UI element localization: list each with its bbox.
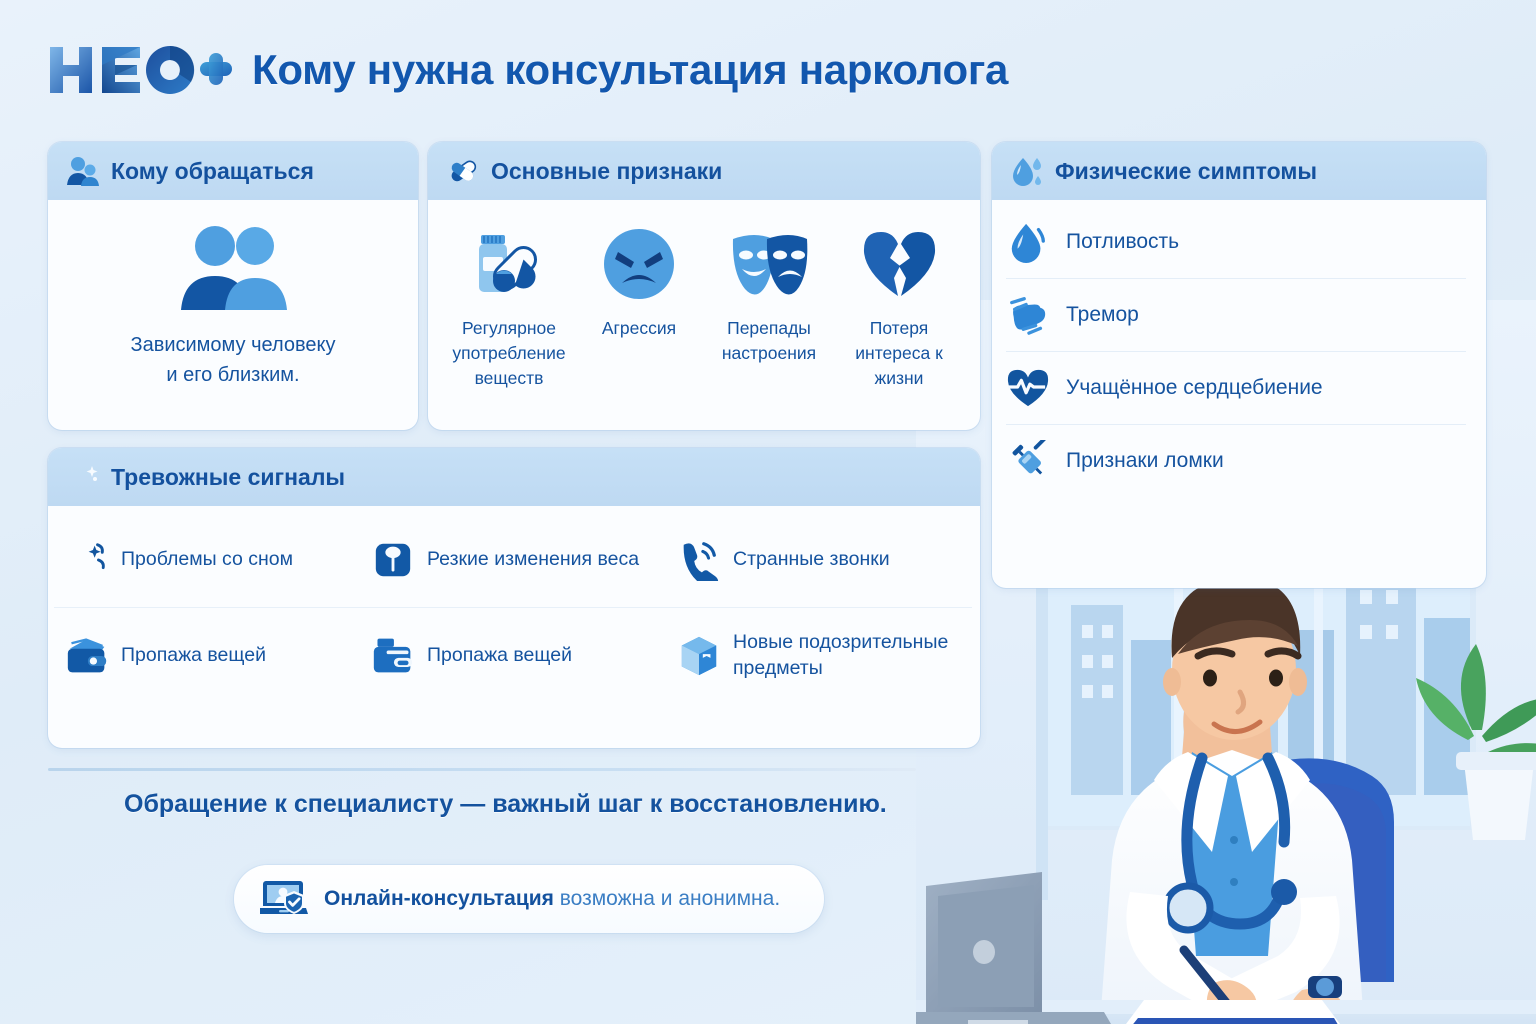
- weight-scale-icon: [372, 539, 414, 581]
- syringe-icon: [1006, 439, 1050, 483]
- laptop-check-icon: [260, 878, 308, 920]
- list-item: Пропажа вещей: [54, 608, 360, 704]
- water-drops-icon: [1010, 154, 1044, 188]
- signs-grid: Регулярное употребление веществ Агрессия: [446, 214, 962, 391]
- doctor-figure: [1100, 578, 1364, 1024]
- list-item: Регулярное употребление веществ: [446, 226, 572, 391]
- phone-call-icon: [678, 539, 720, 581]
- audience-line-1: Зависимому человеку: [131, 330, 336, 360]
- theatre-masks-icon: [727, 226, 811, 302]
- angry-face-icon: [602, 226, 676, 302]
- page-title: Кому нужна консультация нарколога: [252, 46, 1008, 94]
- card-title: Физические симптомы: [1055, 158, 1317, 185]
- card-title: Основные признаки: [491, 158, 722, 185]
- list-item-label: Регулярное употребление веществ: [446, 316, 572, 391]
- audience-description: Зависимому человеку и его близким.: [131, 330, 336, 390]
- list-item-label: Проблемы со сном: [121, 547, 293, 573]
- card-physical-symptoms: Физические симптомы Потливость: [992, 142, 1486, 588]
- plant: [1416, 644, 1536, 840]
- list-item-label: Потеря интереса к жизни: [836, 316, 962, 391]
- list-item-label: Потливость: [1066, 229, 1179, 256]
- moon-sleep-icon: [66, 539, 108, 581]
- list-item-label: Перепады настроения: [706, 316, 832, 366]
- card-header: Кому обращаться: [48, 142, 418, 200]
- audience-line-2: и его близким.: [131, 360, 336, 390]
- footer-divider: [48, 768, 916, 771]
- warnings-grid: Проблемы со сном Резкие изменения веса: [48, 506, 980, 704]
- online-consultation-badge[interactable]: Онлайн-консультация возможна и анонимна.: [234, 865, 824, 933]
- list-item: Пропажа вещей: [360, 608, 666, 704]
- online-rest-text: возможна и анонимна.: [554, 887, 780, 910]
- symptom-list: Потливость Тремор: [992, 200, 1486, 497]
- broken-heart-icon: [860, 226, 938, 302]
- list-item-label: Тремор: [1066, 302, 1139, 329]
- shaking-hand-icon: [1006, 293, 1050, 337]
- list-item: Тремор: [1006, 279, 1466, 352]
- list-item: Признаки ломки: [1006, 425, 1466, 497]
- list-item: Учащённое сердцебиение: [1006, 352, 1466, 425]
- page-header: Кому нужна консультация нарколога: [48, 34, 1008, 106]
- heart-pulse-icon: [1006, 366, 1050, 410]
- list-item-label: Новые подозрительные предметы: [733, 630, 960, 682]
- moon-icon: [66, 460, 100, 494]
- pill-bottle-icon: [471, 226, 547, 302]
- list-item: Потливость: [1006, 206, 1466, 279]
- card-title: Кому обращаться: [111, 158, 314, 185]
- card-body: Регулярное употребление веществ Агрессия: [428, 200, 980, 407]
- card-body: Зависимому человеку и его близким.: [48, 200, 418, 430]
- list-item-label: Агрессия: [602, 316, 676, 341]
- pills-icon: [446, 154, 480, 188]
- laptop: [916, 872, 1118, 1024]
- card-who-to-contact: Кому обращаться Зависимому человеку и ег…: [48, 142, 418, 430]
- list-item-label: Учащённое сердцебиение: [1066, 375, 1323, 402]
- card-warning-signals: Тревожные сигналы Проблемы со сном: [48, 448, 980, 748]
- suspicious-box-icon: [678, 635, 720, 677]
- online-consultation-text: Онлайн-консультация возможна и анонимна.: [324, 887, 780, 911]
- card-main-signs: Основные признаки Регулярное: [428, 142, 980, 430]
- list-item: Перепады настроения: [706, 226, 832, 391]
- wallet-closed-icon: [372, 635, 414, 677]
- list-item: Потеря интереса к жизни: [836, 226, 962, 391]
- two-people-icon: [171, 224, 295, 310]
- footer-statement: Обращение к специалисту — важный шаг к в…: [124, 790, 887, 819]
- card-header: Тревожные сигналы: [48, 448, 980, 506]
- people-icon: [66, 154, 100, 188]
- list-item-label: Пропажа вещей: [427, 643, 572, 669]
- list-item: Новые подозрительные предметы: [666, 608, 972, 704]
- card-header: Физические симптомы: [992, 142, 1486, 200]
- card-header: Основные признаки: [428, 142, 980, 200]
- online-strong-text: Онлайн-консультация: [324, 887, 554, 910]
- list-item: Проблемы со сном: [54, 512, 360, 608]
- list-item-label: Пропажа вещей: [121, 643, 266, 669]
- neo-plus-logo[interactable]: [48, 41, 234, 99]
- card-title: Тревожные сигналы: [111, 464, 345, 491]
- list-item-label: Странные звонки: [733, 547, 890, 573]
- list-item: Агрессия: [576, 226, 702, 391]
- wallet-open-icon: [66, 635, 108, 677]
- list-item-label: Признаки ломки: [1066, 448, 1224, 475]
- list-item-label: Резкие изменения веса: [427, 547, 639, 573]
- droplet-icon: [1006, 220, 1050, 264]
- list-item: Странные звонки: [666, 512, 972, 608]
- list-item: Резкие изменения веса: [360, 512, 666, 608]
